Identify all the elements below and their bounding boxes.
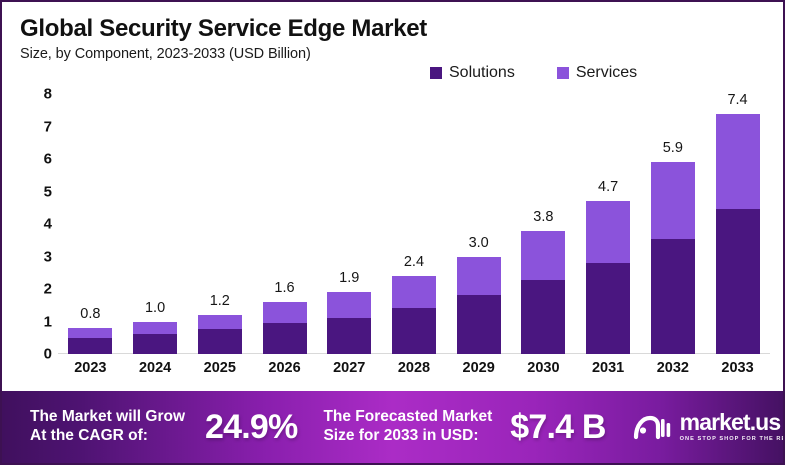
x-axis-tick: 2025 — [204, 360, 236, 376]
stacked-bar[interactable] — [716, 114, 760, 355]
x-axis-tick: 2030 — [527, 360, 559, 376]
header: Global Security Service Edge Market Size… — [20, 16, 765, 62]
bar-group[interactable]: 1.22025 — [198, 94, 242, 354]
bar-group[interactable]: 1.92027 — [327, 94, 371, 354]
x-axis-tick: 2024 — [139, 360, 171, 376]
bar-segment-solutions[interactable] — [263, 323, 307, 354]
bar-segment-services[interactable] — [392, 276, 436, 308]
bar-group[interactable]: 7.42033 — [716, 94, 760, 354]
bar-segment-solutions[interactable] — [716, 209, 760, 354]
bar-segment-services[interactable] — [716, 114, 760, 210]
bar-group[interactable]: 1.02024 — [133, 94, 177, 354]
bar-segment-services[interactable] — [651, 162, 695, 238]
x-axis-tick: 2027 — [333, 360, 365, 376]
bar-group[interactable]: 5.92032 — [651, 94, 695, 354]
y-axis-tick: 4 — [22, 216, 52, 233]
cagr-value: 24.9% — [205, 408, 297, 447]
bar-segment-solutions[interactable] — [68, 338, 112, 354]
bar-series-container: 0.820231.020241.220251.620261.920272.420… — [58, 94, 770, 354]
stacked-bar[interactable] — [133, 322, 177, 354]
footer-banner: The Market will Grow At the CAGR of: 24.… — [2, 391, 783, 463]
bar-value-label: 1.9 — [339, 270, 359, 286]
bar-value-label: 2.4 — [404, 254, 424, 270]
y-axis-tick: 8 — [22, 86, 52, 103]
bar-segment-solutions[interactable] — [651, 239, 695, 354]
bar-group[interactable]: 3.82030 — [521, 94, 565, 354]
bar-group[interactable]: 0.82023 — [68, 94, 112, 354]
bar-segment-services[interactable] — [586, 201, 630, 263]
bar-value-label: 1.0 — [145, 300, 165, 316]
x-axis-tick: 2026 — [268, 360, 300, 376]
bar-segment-services[interactable] — [457, 257, 501, 295]
bar-segment-solutions[interactable] — [133, 334, 177, 354]
stacked-bar[interactable] — [651, 162, 695, 354]
legend-item-services[interactable]: Services — [557, 64, 637, 82]
legend-label: Services — [576, 64, 637, 82]
y-axis-tick: 1 — [22, 313, 52, 330]
y-axis-tick: 5 — [22, 183, 52, 200]
page-title: Global Security Service Edge Market — [20, 16, 765, 42]
x-axis-tick: 2033 — [721, 360, 753, 376]
chart-legend: SolutionsServices — [430, 64, 637, 82]
bar-value-label: 5.9 — [663, 140, 683, 156]
bar-segment-services[interactable] — [521, 231, 565, 281]
y-axis-tick: 3 — [22, 248, 52, 265]
y-axis-tick: 6 — [22, 151, 52, 168]
chart-subtitle: Size, by Component, 2023-2033 (USD Billi… — [20, 46, 765, 62]
square-swatch-icon — [430, 67, 442, 79]
cagr-caption-line2: At the CAGR of: — [30, 427, 185, 446]
y-axis: 012345678 — [22, 94, 52, 354]
bar-value-label: 4.7 — [598, 179, 618, 195]
bar-group[interactable]: 3.02029 — [457, 94, 501, 354]
logo-tagline: ONE STOP SHOP FOR THE REPORTS — [680, 437, 783, 443]
bar-group[interactable]: 4.72031 — [586, 94, 630, 354]
bar-segment-services[interactable] — [327, 292, 371, 317]
legend-item-solutions[interactable]: Solutions — [430, 64, 515, 82]
market-us-logo-icon — [632, 412, 672, 442]
bar-segment-solutions[interactable] — [521, 280, 565, 354]
bar-group[interactable]: 2.42028 — [392, 94, 436, 354]
cagr-caption: The Market will Grow At the CAGR of: — [30, 408, 185, 446]
bar-value-label: 3.0 — [469, 235, 489, 251]
stacked-bar[interactable] — [263, 302, 307, 354]
stacked-bar[interactable] — [392, 276, 436, 354]
stacked-bar[interactable] — [198, 315, 242, 354]
stacked-bar[interactable] — [457, 257, 501, 354]
bar-group[interactable]: 1.62026 — [263, 94, 307, 354]
bar-segment-solutions[interactable] — [392, 308, 436, 354]
bar-segment-solutions[interactable] — [198, 329, 242, 354]
brand-logo[interactable]: market.us ONE STOP SHOP FOR THE REPORTS — [632, 411, 783, 443]
stacked-bar[interactable] — [68, 328, 112, 354]
stacked-bar[interactable] — [327, 292, 371, 354]
bar-segment-services[interactable] — [133, 322, 177, 334]
bar-value-label: 7.4 — [727, 92, 747, 108]
bar-segment-solutions[interactable] — [586, 263, 630, 354]
y-axis-tick: 7 — [22, 118, 52, 135]
bar-value-label: 3.8 — [533, 209, 553, 225]
forecast-caption-line2: Size for 2033 in USD: — [323, 427, 492, 446]
legend-label: Solutions — [449, 64, 515, 82]
plot-area: 012345678 0.820231.020241.220251.620261.… — [58, 94, 770, 354]
bar-segment-services[interactable] — [263, 302, 307, 323]
forecast-value: $7.4 B — [510, 408, 605, 447]
bar-value-label: 1.6 — [274, 280, 294, 296]
bar-segment-solutions[interactable] — [327, 318, 371, 354]
logo-name: market.us — [680, 411, 783, 434]
forecast-caption-line1: The Forecasted Market — [323, 408, 492, 427]
forecast-caption: The Forecasted Market Size for 2033 in U… — [323, 408, 492, 446]
stacked-bar[interactable] — [586, 201, 630, 354]
bar-value-label: 0.8 — [80, 306, 100, 322]
chart-infographic: Global Security Service Edge Market Size… — [0, 0, 785, 465]
bar-segment-services[interactable] — [198, 315, 242, 329]
logo-text: market.us ONE STOP SHOP FOR THE REPORTS — [680, 411, 783, 443]
cagr-caption-line1: The Market will Grow — [30, 408, 185, 427]
bar-segment-solutions[interactable] — [457, 295, 501, 354]
x-axis-tick: 2023 — [74, 360, 106, 376]
stacked-bar[interactable] — [521, 231, 565, 354]
x-axis-tick: 2029 — [463, 360, 495, 376]
bar-value-label: 1.2 — [210, 293, 230, 309]
y-axis-tick: 2 — [22, 281, 52, 298]
x-axis-tick: 2032 — [657, 360, 689, 376]
bar-segment-services[interactable] — [68, 328, 112, 338]
y-axis-tick: 0 — [22, 346, 52, 363]
square-swatch-icon — [557, 67, 569, 79]
x-axis-tick: 2031 — [592, 360, 624, 376]
x-axis-tick: 2028 — [398, 360, 430, 376]
